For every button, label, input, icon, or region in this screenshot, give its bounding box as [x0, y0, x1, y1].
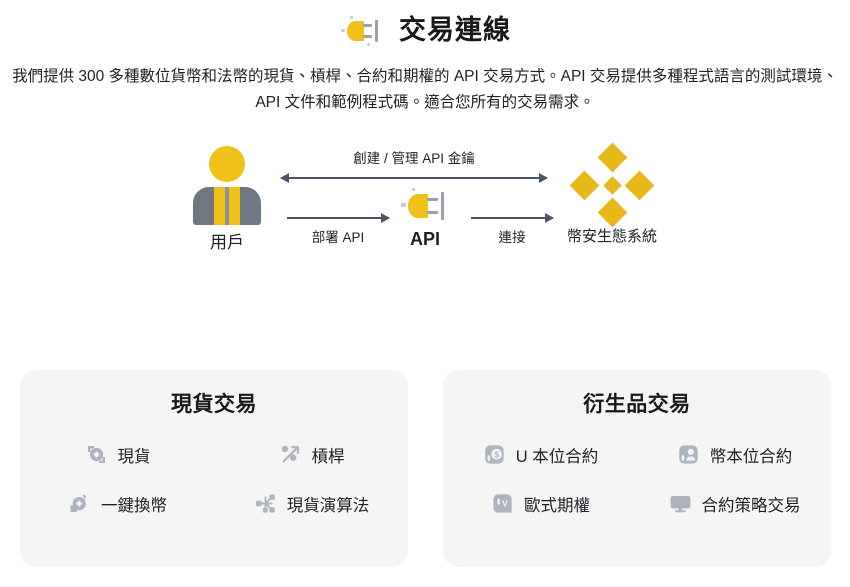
card-title: 衍生品交易	[443, 388, 831, 418]
card-item-futures-strategy[interactable]: 合約策略交易	[637, 491, 831, 516]
logo-diamond	[597, 198, 627, 228]
card-item-algo-order[interactable]: 現貨演算法	[214, 491, 408, 516]
avatar-tie	[225, 187, 229, 225]
card-item-margin[interactable]: 槓桿	[214, 442, 408, 467]
plug-body	[347, 21, 364, 41]
card-item-grid: 現貨 槓桿	[20, 442, 408, 516]
card-derivatives-trading: 衍生品交易 $ U 本位合約	[443, 370, 831, 567]
usd-m-futures-icon: $	[482, 442, 507, 467]
plug-socket	[375, 20, 378, 42]
plug-prong	[427, 198, 438, 201]
spark-dot	[367, 43, 370, 46]
binance-logo-icon	[573, 146, 651, 224]
arrow-head-right	[381, 213, 390, 223]
logo-diamond	[597, 143, 627, 173]
spark-dot	[412, 188, 415, 191]
card-item-label: U 本位合約	[516, 443, 599, 467]
diagram-node-label-binance: 幣安生態系統	[549, 227, 675, 246]
user-avatar-icon	[185, 144, 269, 226]
card-item-label: 一鍵換幣	[101, 492, 167, 516]
page-description: 我們提供 300 多種數位貨幣和法幣的現貨、槓桿、合約和期權的 API 交易方式…	[7, 64, 843, 116]
card-item-coin-m-futures[interactable]: 幣本位合約	[637, 442, 831, 467]
card-item-grid: $ U 本位合約 幣本位合約	[443, 442, 831, 516]
page-header: 交易連線	[0, 0, 850, 48]
arrow-line	[471, 217, 553, 219]
plug-icon	[398, 188, 452, 224]
card-item-european-options[interactable]: V 歐式期權	[443, 491, 637, 516]
convert-icon	[67, 491, 92, 516]
spark-dot	[350, 16, 353, 19]
logo-diamond	[625, 170, 655, 200]
card-item-label: 合約策略交易	[702, 492, 801, 516]
plug-icon	[339, 16, 385, 46]
card-item-label: 幣本位合約	[710, 443, 793, 467]
card-item-label: 槓桿	[312, 443, 345, 467]
diagram-arrow-caption: 創建 / 管理 API 金鑰	[281, 147, 547, 167]
plug-prong	[427, 211, 438, 214]
svg-text:V: V	[502, 498, 508, 508]
diagram-node-user: 用戶	[175, 144, 279, 252]
spot-icon	[84, 442, 109, 467]
card-item-spot[interactable]: 現貨	[20, 442, 214, 467]
page-title: 交易連線	[399, 17, 511, 44]
plug-prong	[363, 35, 372, 38]
arrow-head-right	[539, 173, 548, 183]
arrow-head-right	[545, 213, 554, 223]
diagram-node-binance: 幣安生態系統	[549, 146, 675, 246]
plug-prong	[363, 24, 372, 27]
diagram-arrow-caption: 部署 API	[287, 226, 389, 246]
feature-cards: 現貨交易 現貨	[20, 370, 831, 567]
diagram-node-label-user: 用戶	[175, 233, 279, 252]
european-options-icon: V	[490, 491, 515, 516]
diagram-arrow-caption: 連接	[471, 226, 553, 246]
algo-order-icon	[253, 491, 278, 516]
plug-socket	[441, 192, 444, 220]
arrow-head-left	[280, 173, 289, 183]
card-item-label: 歐式期權	[524, 492, 590, 516]
margin-icon	[278, 442, 303, 467]
plug-body	[408, 194, 428, 218]
spark-dot	[341, 29, 345, 32]
spark-dot	[401, 203, 406, 207]
card-item-label: 現貨	[118, 443, 151, 467]
arrow-line	[281, 177, 547, 179]
card-title: 現貨交易	[20, 388, 408, 418]
card-item-label: 現貨演算法	[287, 492, 370, 516]
avatar-head	[209, 146, 245, 182]
card-spot-trading: 現貨交易 現貨	[20, 370, 408, 567]
flow-diagram: 用戶 API 幣安生態系統 創建 / 管理 API 金鑰	[175, 144, 675, 279]
svg-text:$: $	[494, 451, 499, 460]
card-item-usd-m-futures[interactable]: $ U 本位合約	[443, 442, 637, 467]
logo-diamond	[570, 170, 600, 200]
arrow-line	[287, 217, 389, 219]
card-item-convert[interactable]: 一鍵換幣	[20, 491, 214, 516]
logo-diamond	[603, 176, 621, 194]
coin-m-futures-icon	[676, 442, 701, 467]
futures-strategy-icon	[668, 491, 693, 516]
